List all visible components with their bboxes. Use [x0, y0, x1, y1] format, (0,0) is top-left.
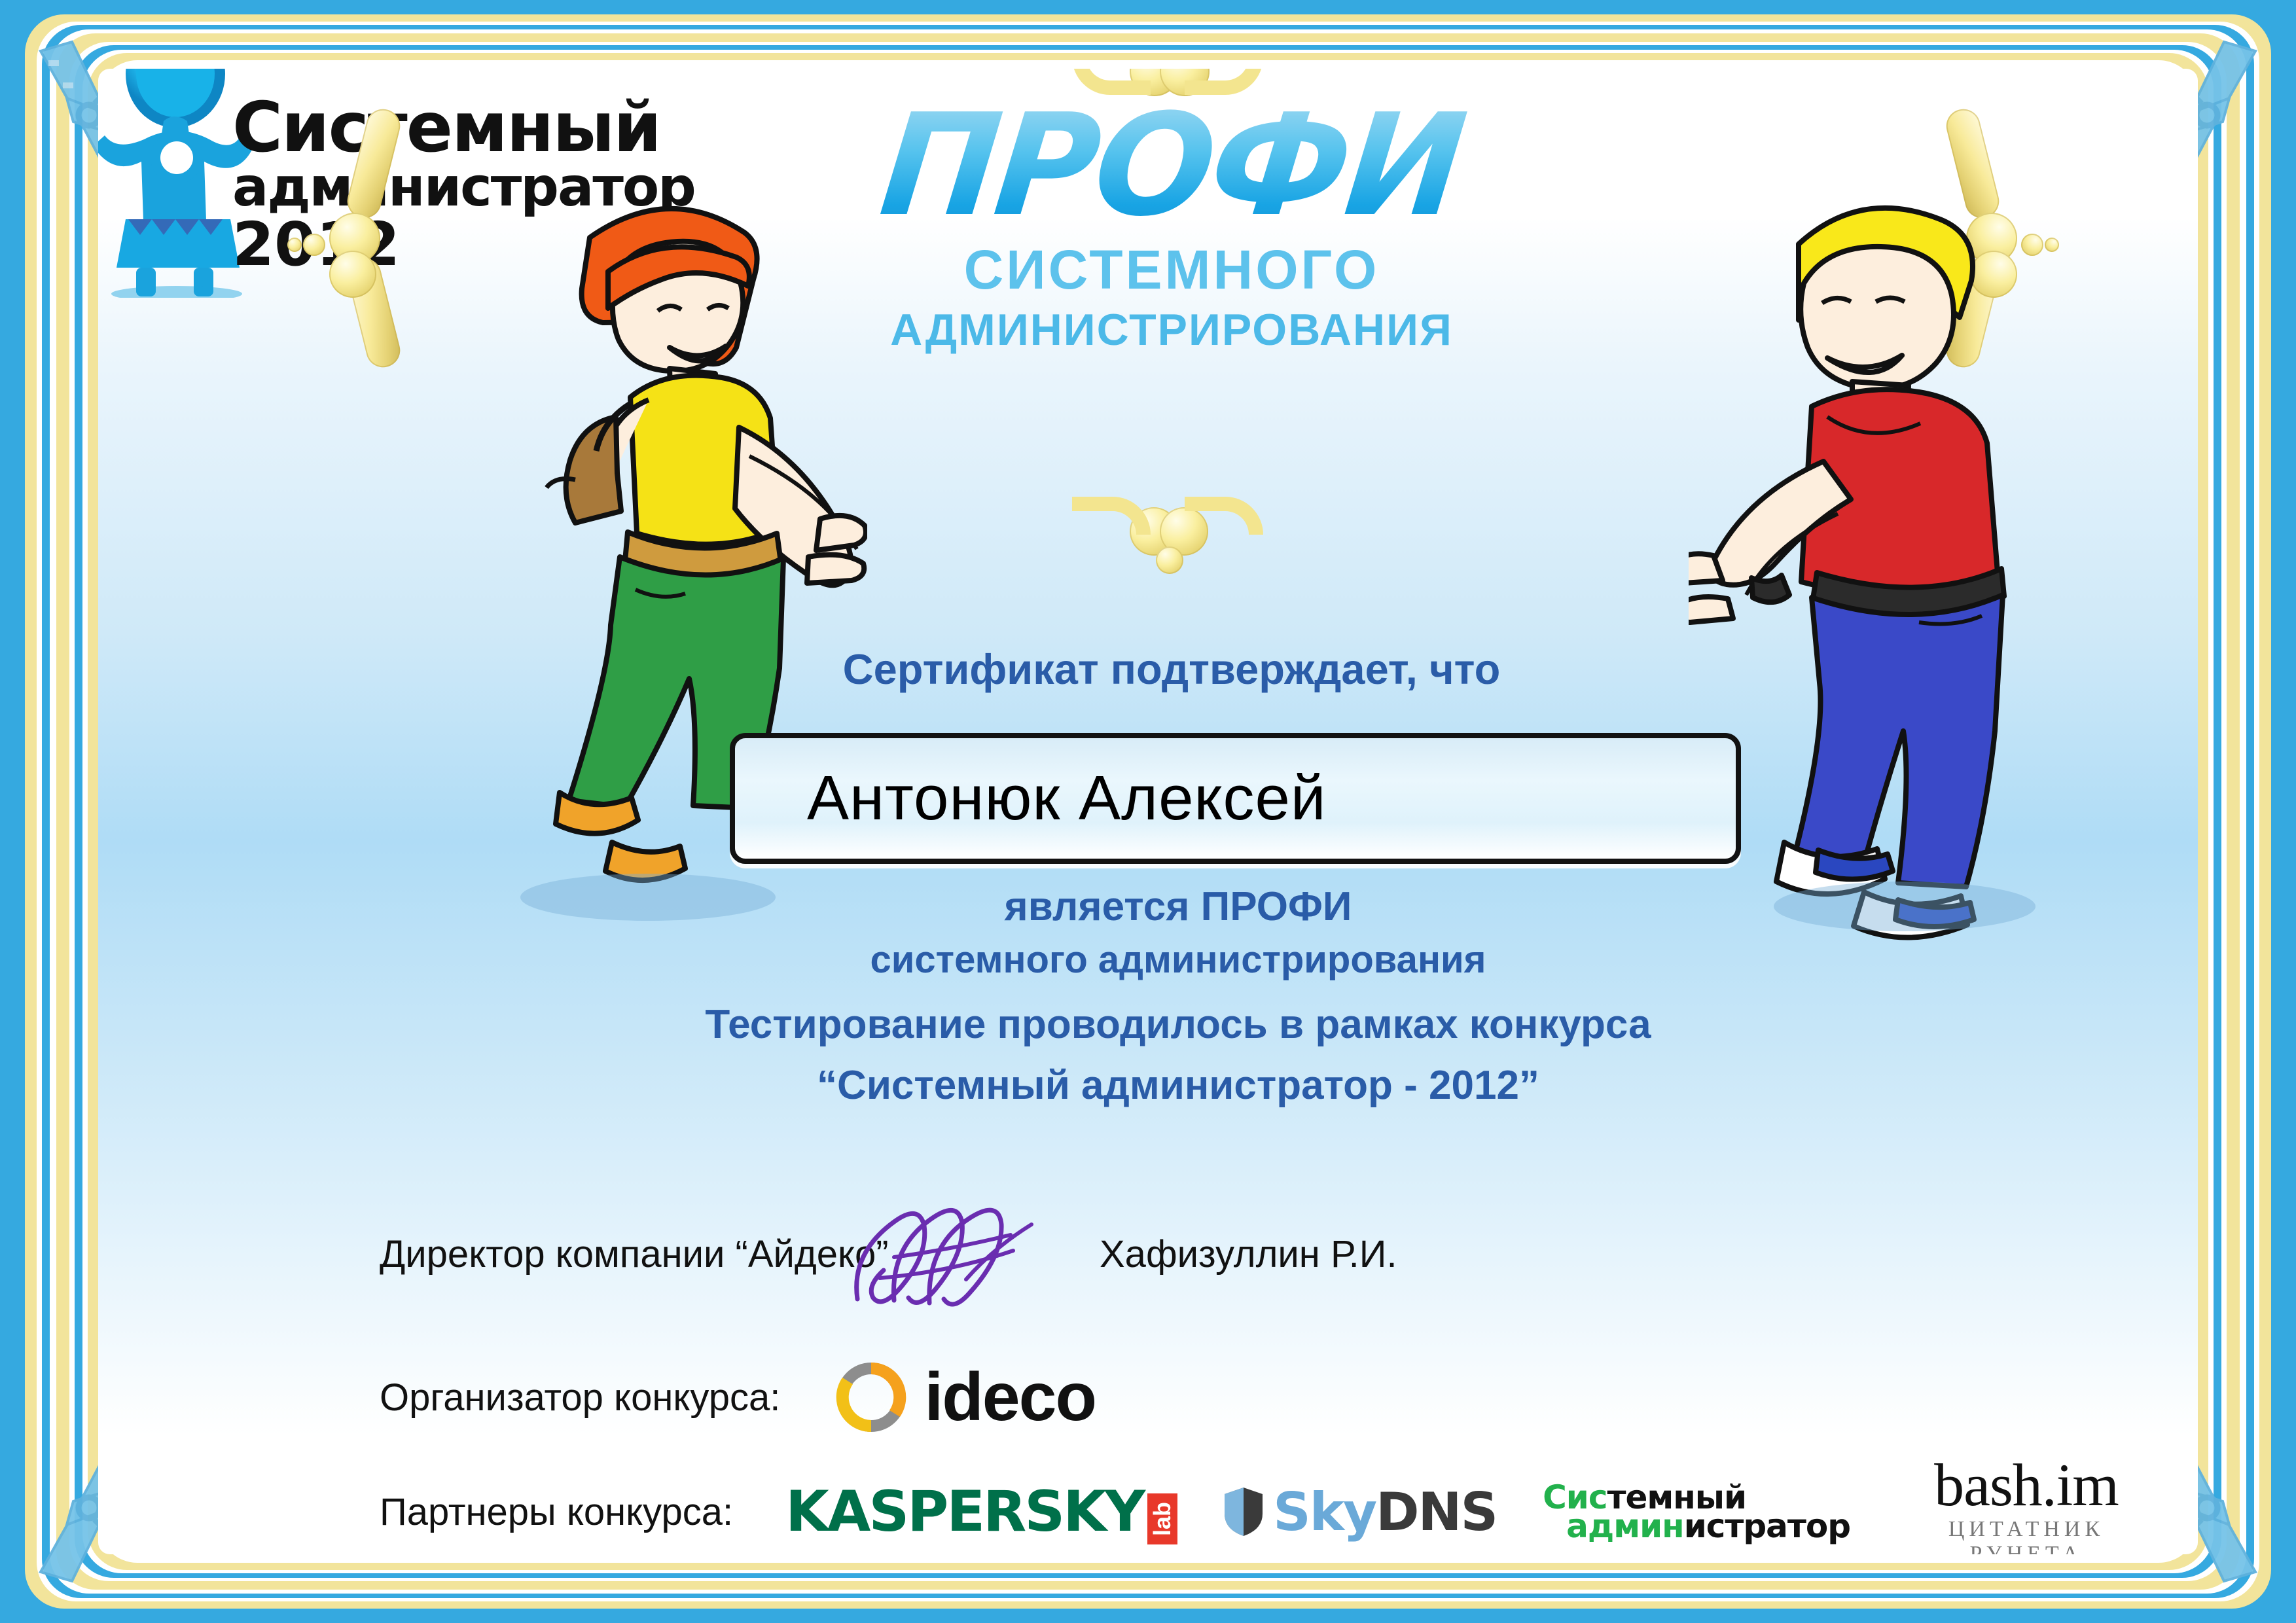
sysadmin-logo-istrator: истратор — [1684, 1507, 1850, 1545]
sysadmin-logo-admin: админ — [1566, 1507, 1684, 1545]
shield-icon — [1223, 1486, 1264, 1537]
organizer-row: Организатор конкурса: ideco — [380, 1348, 1361, 1446]
body-line-1: является ПРОФИ — [687, 883, 1669, 930]
skydns-logo: SkyDNS — [1223, 1482, 1497, 1543]
handwritten-signature-icon — [831, 1201, 1073, 1312]
logo-line-1: Системный — [232, 95, 599, 161]
bashim-logo: bash.im ЦИТАТНИК РУНЕТА — [1906, 1457, 2147, 1554]
ideco-logo: ideco — [833, 1359, 1096, 1436]
gold-flourish-bottom-icon — [1060, 493, 1276, 565]
certificate-body: Системный администратор 2012 — [98, 69, 2198, 1554]
boy-holding-sign-illustration — [1689, 173, 2108, 959]
body-line-4: “Системный администратор - 2012” — [687, 1062, 1669, 1109]
title-block: ПРОФИ СИСТЕМНОГО АДМИНИСТРИРОВАНИЯ — [812, 95, 1532, 355]
kaspersky-lab-badge: lab — [1147, 1493, 1177, 1544]
signature-label: Директор компании “Айдеко” — [380, 1232, 889, 1276]
gold-brace-left-icon — [317, 108, 416, 383]
bashim-wordmark: bash.im — [1906, 1457, 2147, 1514]
organizer-label: Организатор конкурса: — [380, 1376, 780, 1419]
kaspersky-wordmark: KASPERSKY — [785, 1479, 1143, 1544]
partners-row: Партнеры конкурса: KASPERSKY lab SkyDNS — [380, 1463, 2147, 1554]
skydns-word-sky: Sky — [1273, 1482, 1376, 1543]
certificate-page: Системный администратор 2012 — [0, 0, 2296, 1623]
recipient-name: Антонюк Алексей — [735, 762, 1327, 834]
title-sub-systemnogo: СИСТЕМНОГО — [812, 238, 1532, 302]
kaspersky-lab-logo: KASPERSKY lab — [785, 1479, 1177, 1544]
kaspersky-lab-badge-text: lab — [1149, 1502, 1176, 1536]
body-text: является ПРОФИ системного администрирова… — [687, 883, 1669, 1109]
recipient-name-box: Антонюк Алексей — [730, 733, 1741, 864]
intro-text: Сертификат подтверждает, что — [812, 645, 1532, 694]
title-sub-administrirovaniya: АДМИНИСТРИРОВАНИЯ — [812, 304, 1532, 355]
bashim-tagline: ЦИТАТНИК РУНЕТА — [1906, 1517, 2147, 1554]
body-line-3: Тестирование проводилось в рамках конкур… — [687, 1001, 1669, 1048]
partners-label: Партнеры конкурса: — [380, 1490, 733, 1534]
sysadmin-magazine-logo: Системный администратор — [1543, 1483, 1850, 1541]
title-profi: ПРОФИ — [804, 95, 1539, 236]
skydns-word-dns: DNS — [1376, 1482, 1497, 1543]
signer-name: Хафизуллин Р.И. — [1100, 1232, 1397, 1276]
skydns-wordmark: SkyDNS — [1273, 1482, 1497, 1543]
body-line-2: системного администрирования — [687, 938, 1669, 982]
signature-row: Директор компании “Айдеко” Хафизуллин Р.… — [380, 1221, 1558, 1299]
ideco-wordmark: ideco — [924, 1363, 1096, 1431]
ideco-ring-icon — [833, 1359, 910, 1436]
sysadmin-logo-line-2: администратор — [1543, 1507, 1850, 1545]
